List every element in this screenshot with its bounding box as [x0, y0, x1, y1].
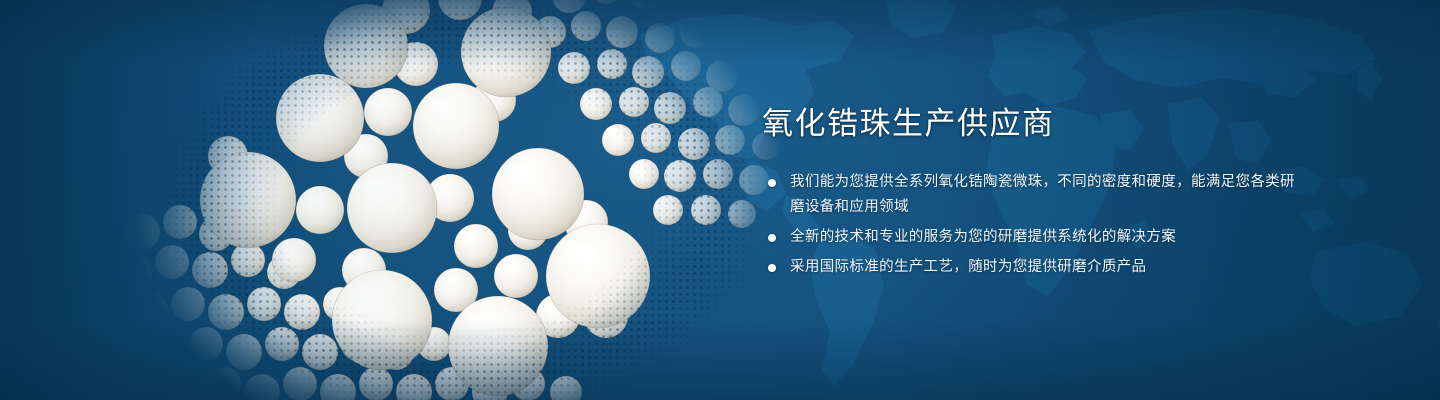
bullet-dot-icon [768, 234, 776, 242]
feature-item-text: 采用国际标准的生产工艺，随时为您提供研磨介质产品 [790, 255, 1302, 280]
banner-copy: 氧化锆珠生产供应商 我们能为您提供全系列氧化锆陶瓷微珠，不同的密度和硬度，能满足… [762, 104, 1302, 280]
banner-headline: 氧化锆珠生产供应商 [762, 104, 1302, 144]
feature-item-text: 我们能为您提供全系列氧化锆陶瓷微珠，不同的密度和硬度，能满足您各类研磨设备和应用… [790, 170, 1302, 220]
feature-item: 我们能为您提供全系列氧化锆陶瓷微珠，不同的密度和硬度，能满足您各类研磨设备和应用… [762, 170, 1302, 220]
hero-banner: circle { fill: url(#bead); stroke: rgba(… [0, 0, 1440, 400]
banner-feature-list: 我们能为您提供全系列氧化锆陶瓷微珠，不同的密度和硬度，能满足您各类研磨设备和应用… [762, 170, 1302, 280]
bullet-dot-icon [768, 179, 776, 187]
bullet-dot-icon [768, 264, 776, 272]
feature-item: 全新的技术和专业的服务为您的研磨提供系统化的解决方案 [762, 225, 1302, 250]
feature-item-text: 全新的技术和专业的服务为您的研磨提供系统化的解决方案 [790, 225, 1302, 250]
feature-item: 采用国际标准的生产工艺，随时为您提供研磨介质产品 [762, 255, 1302, 280]
